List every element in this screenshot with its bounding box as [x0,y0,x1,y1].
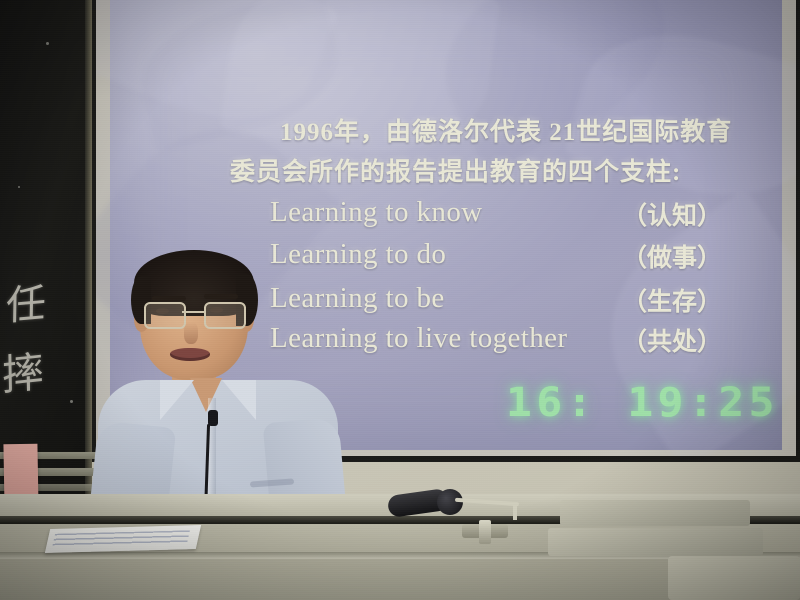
lectern-riser-lower [548,528,763,556]
microphone-stem-bend [513,502,517,520]
lectern-latch [479,520,491,544]
led-clock-display: 16: 19:25 [516,380,769,426]
slide-bullet-4-chinese: （共处） [622,322,722,358]
chalk-dust [70,400,73,403]
glasses-bridge [182,311,204,313]
led-clock-time: 16: 19:25 [506,380,779,426]
paper-text-lines [52,530,190,548]
chalk-mark-1: 任 [6,270,47,332]
chalk-dust [18,186,20,188]
mouth [170,348,210,361]
lectern-riser-upper [560,500,750,526]
eyebrow-right [204,294,238,299]
lapel-microphone-icon [208,410,218,426]
slide-bullet-1: Learning to know （认知） [270,196,483,229]
slide-bullet-2-chinese: （做事） [622,238,722,274]
paper-sheet [45,525,201,553]
nose [184,322,198,344]
blackboard: 任 摔 [0,0,92,520]
slide-bullet-3-chinese: （生存） [622,282,722,318]
lectern-base [668,556,800,600]
shirt-vneck [190,378,222,412]
eyebrow-left [152,296,186,301]
lecture-photo-scene: 1996年，由德洛尔代表 21世纪国际教育 委员会所作的报告提出教育的四个支柱:… [0,0,800,600]
collar-right [222,380,256,420]
slide-heading-line-2: 委员会所作的报告提出教育的四个支柱: [230,152,681,188]
chalk-mark-2: 摔 [2,338,45,404]
chalk-dust [46,42,49,45]
lens-left [144,302,186,329]
collar-left [160,380,194,420]
lens-right [204,302,246,329]
slide-bullet-1-chinese: （认知） [622,196,722,232]
slide-bullet-1-english: Learning to know [270,196,483,229]
slide-heading-line-1: 1996年，由德洛尔代表 21世纪国际教育 [280,112,732,148]
